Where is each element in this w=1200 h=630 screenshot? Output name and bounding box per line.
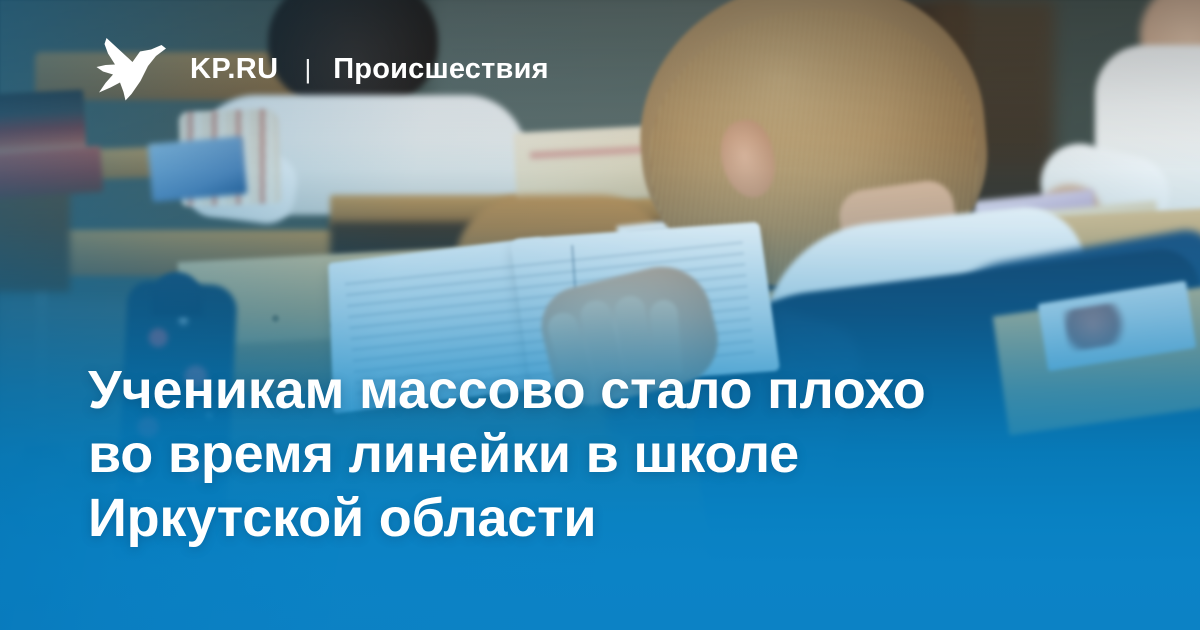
section-name[interactable]: Происшествия (333, 53, 548, 86)
brand-header: KP.RU | Происшествия (96, 36, 549, 102)
headline-line-1: Ученикам массово стало плохо (88, 358, 1098, 422)
kp-swallow-bird-icon (96, 36, 168, 102)
news-share-card: KP.RU | Происшествия Ученикам массово ст… (0, 0, 1200, 630)
headline-line-3: Иркутской области (88, 486, 1098, 550)
headline-line-2: во время линейки в школе (88, 422, 1098, 486)
headline: Ученикам массово стало плохо во время ли… (88, 358, 1098, 550)
brand-name[interactable]: KP.RU (190, 53, 279, 86)
header-separator: | (305, 54, 312, 85)
